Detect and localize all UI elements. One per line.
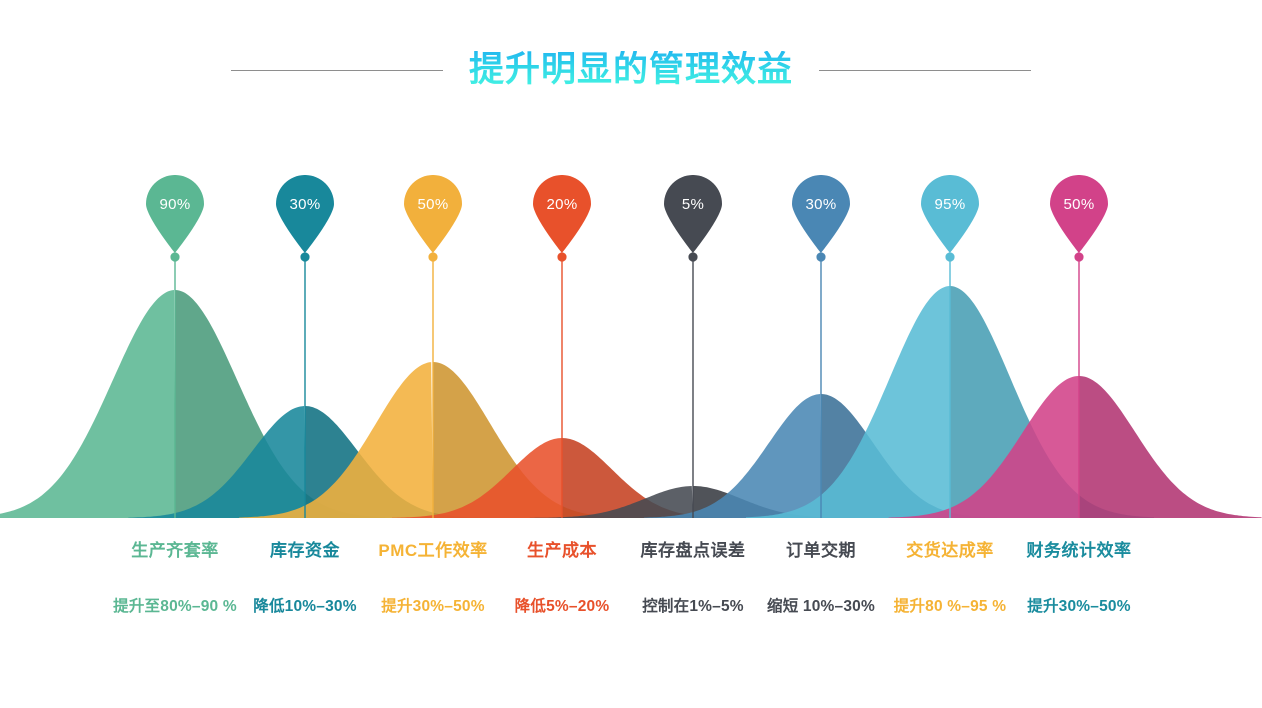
pin-shape-icon <box>1048 175 1110 255</box>
category-detail: 降低10%–30% <box>253 597 356 617</box>
pin-shape-icon <box>274 175 336 255</box>
category-detail: 提升至80%–90 % <box>113 597 237 617</box>
category-label-3: PMC工作效率提升30%–50% <box>378 540 487 617</box>
pin-marker-6[interactable]: 30% <box>790 175 852 255</box>
category-name: 生产齐套率 <box>113 540 237 562</box>
bell-curve-left-1 <box>0 290 175 518</box>
title-row: 提升明显的管理效益 <box>0 42 1262 98</box>
category-detail: 降低5%–20% <box>515 597 610 617</box>
category-detail: 提升30%–50% <box>1027 597 1132 617</box>
pin-marker-8[interactable]: 50% <box>1048 175 1110 255</box>
title-rule-left <box>231 70 443 71</box>
pin-marker-5[interactable]: 5% <box>662 175 724 255</box>
pin-shape-icon <box>402 175 464 255</box>
category-label-6: 订单交期缩短 10%–30% <box>767 540 875 617</box>
category-label-7: 交货达成率提升80 %–95 % <box>894 540 1006 617</box>
category-label-2: 库存资金降低10%–30% <box>253 540 356 617</box>
category-name: 库存盘点误差 <box>641 540 746 562</box>
category-detail: 提升80 %–95 % <box>894 597 1006 617</box>
pin-marker-2[interactable]: 30% <box>274 175 336 255</box>
pin-marker-7[interactable]: 95% <box>919 175 981 255</box>
pin-shape-icon <box>662 175 724 255</box>
pin-shape-icon <box>531 175 593 255</box>
category-name: 订单交期 <box>767 540 875 562</box>
title-rule-right <box>819 70 1031 71</box>
category-detail: 缩短 10%–30% <box>767 597 875 617</box>
category-label-8: 财务统计效率提升30%–50% <box>1027 540 1132 617</box>
category-label-1: 生产齐套率提升至80%–90 % <box>113 540 237 617</box>
category-name: PMC工作效率 <box>378 540 487 562</box>
pin-marker-4[interactable]: 20% <box>531 175 593 255</box>
category-name: 财务统计效率 <box>1027 540 1132 562</box>
pin-shape-icon <box>144 175 206 255</box>
category-label-4: 生产成本降低5%–20% <box>515 540 610 617</box>
category-detail: 控制在1%–5% <box>641 597 746 617</box>
pin-marker-3[interactable]: 50% <box>402 175 464 255</box>
pin-shape-icon <box>919 175 981 255</box>
pin-marker-1[interactable]: 90% <box>144 175 206 255</box>
bell-curve-shade-8 <box>1079 376 1262 518</box>
curve-layer <box>0 286 1262 518</box>
category-name: 交货达成率 <box>894 540 1006 562</box>
category-label-5: 库存盘点误差控制在1%–5% <box>641 540 746 617</box>
infographic-stage: 提升明显的管理效益 90%30%50%20%5%30%95%50% 生产齐套率提… <box>0 0 1262 708</box>
page-title: 提升明显的管理效益 <box>469 51 793 90</box>
category-label-layer: 生产齐套率提升至80%–90 %库存资金降低10%–30%PMC工作效率提升30… <box>0 540 1262 650</box>
category-name: 库存资金 <box>253 540 356 562</box>
pin-shape-icon <box>790 175 852 255</box>
category-name: 生产成本 <box>515 540 610 562</box>
category-detail: 提升30%–50% <box>378 597 487 617</box>
